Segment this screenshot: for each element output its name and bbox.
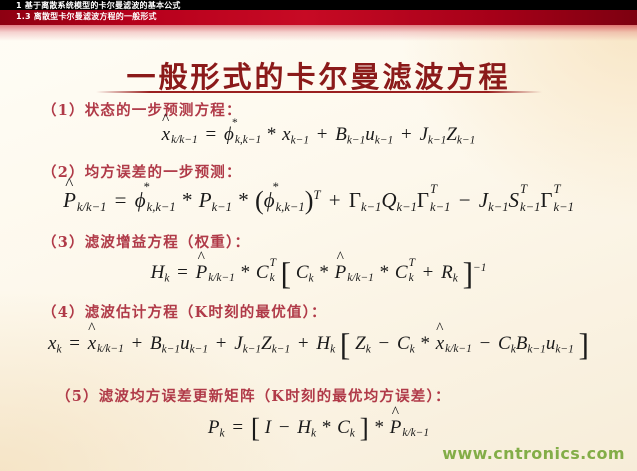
page-title: 一般形式的卡尔曼滤波方程 <box>0 54 637 96</box>
formula-1: xk/k−1 = ϕk,k−1 * xk−1 + Bk−1uk−1 + Jk−1… <box>0 124 637 147</box>
formula-2: Pk/k−1 = ϕk,k−1 * Pk−1 * (ϕk,k−1)T + Γk−… <box>0 186 637 216</box>
formula-3: Hk = Pk/k−1 * CTk [ Ck * Pk/k−1 * CTk + … <box>0 256 637 292</box>
slide-canvas: 1 基于离散系统模型的卡尔曼滤波的基本公式 1.3 离散型卡尔曼滤波方程的一般形… <box>0 0 637 471</box>
step-label-1: （1）状态的一步预测方程： <box>42 99 242 120</box>
formula-4: xk = xk/k−1 + Bk−1uk−1 + Jk−1Zk−1 + Hk [… <box>0 327 637 363</box>
header-banner-fade <box>0 25 637 41</box>
title-underline <box>96 91 542 93</box>
step-label-4: （4）滤波估计方程（K时刻的最优值）： <box>42 301 327 322</box>
header-chapter-title: 1 基于离散系统模型的卡尔曼滤波的基本公式 <box>16 0 181 11</box>
formula-5: Pk = [ I − Hk * Ck ] * Pk/k−1 <box>0 412 637 444</box>
step-label-3: （3）滤波增益方程（权重）： <box>42 231 250 252</box>
header-section-title: 1.3 离散型卡尔曼滤波方程的一般形式 <box>16 11 157 23</box>
watermark: www.cntronics.com <box>442 444 625 463</box>
